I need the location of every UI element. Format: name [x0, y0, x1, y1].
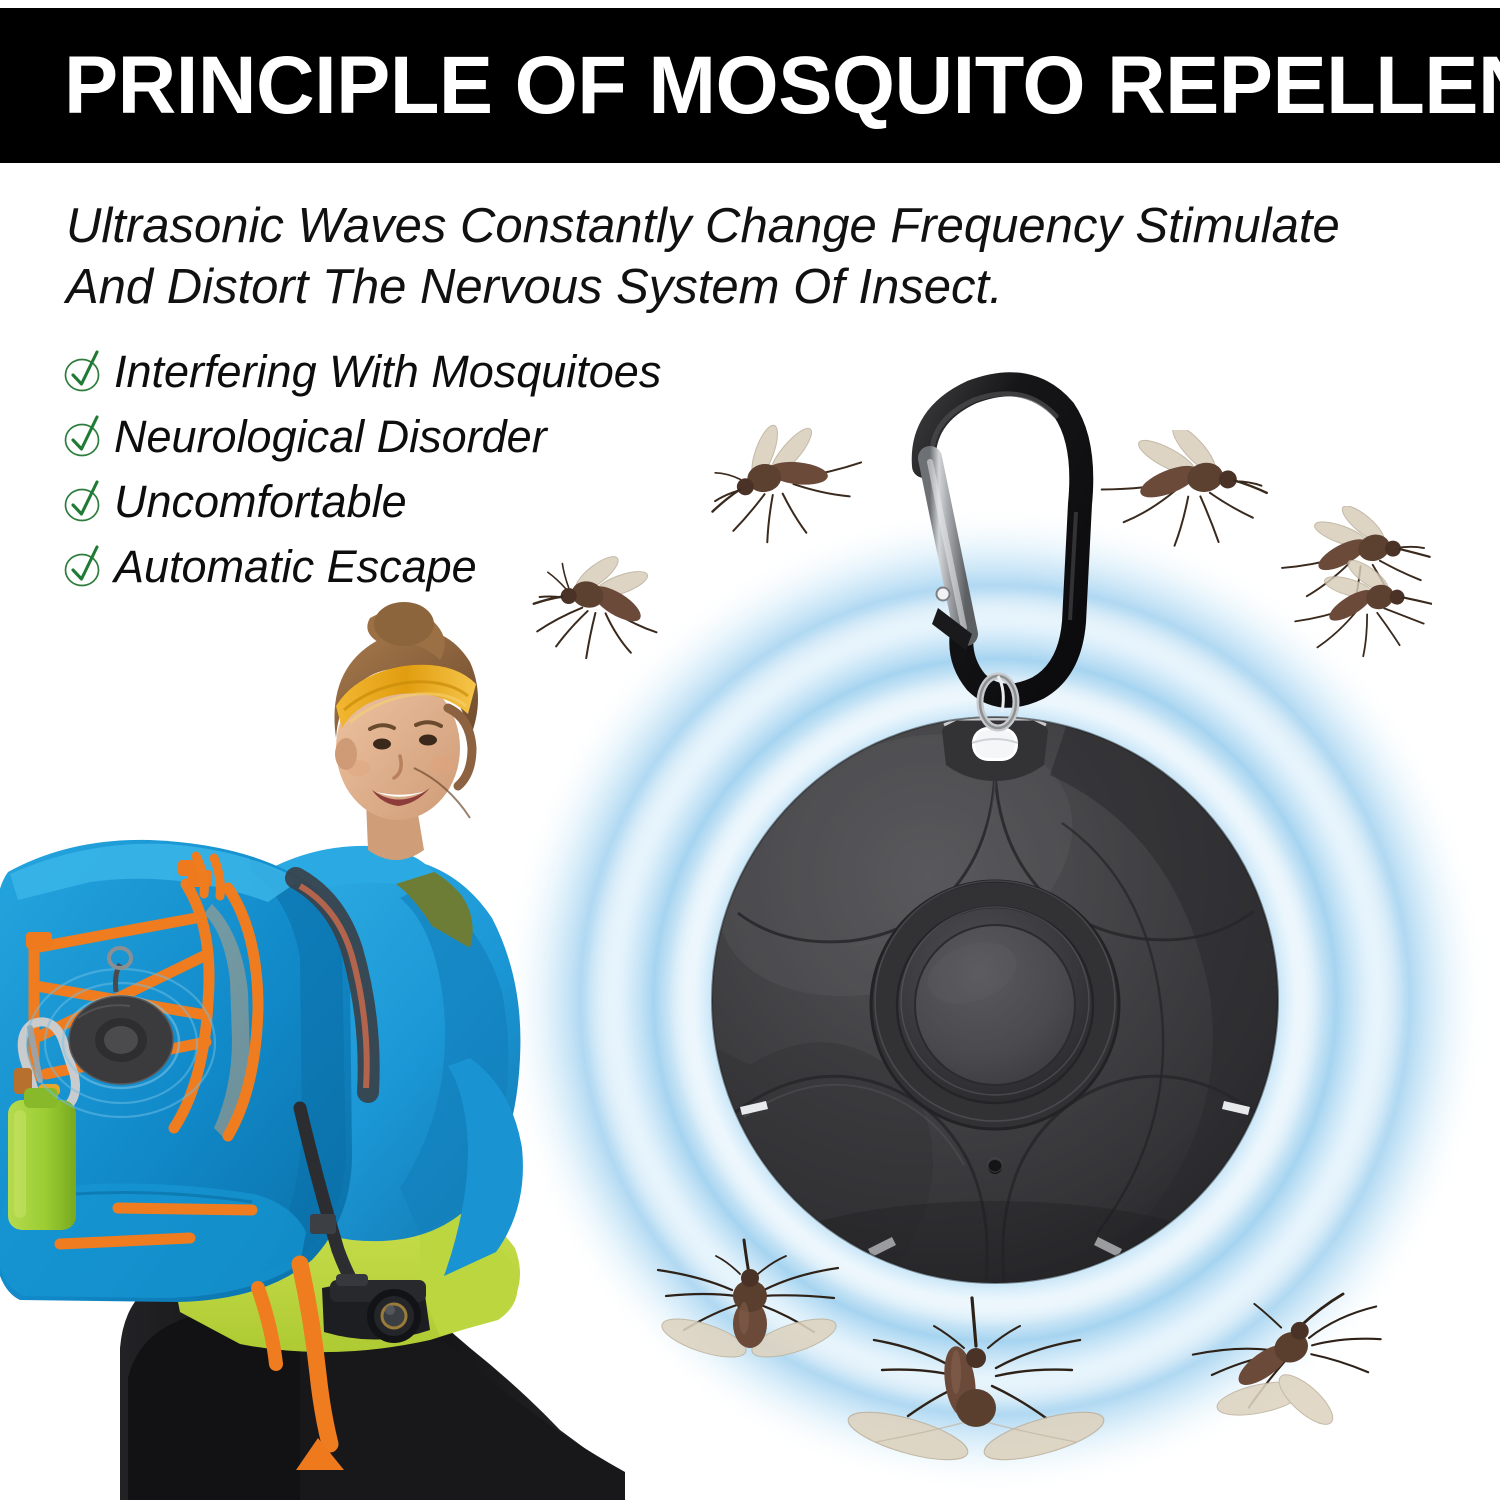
eye-left	[373, 739, 391, 750]
list-item-label: Neurological Disorder	[114, 414, 547, 459]
mosquito-proboscis	[1402, 589, 1431, 613]
mosquito	[526, 552, 690, 672]
check-circle-icon	[62, 478, 104, 524]
hiker-with-backpack-photo	[0, 588, 625, 1500]
subtitle-block: Ultrasonic Waves Constantly Change Frequ…	[66, 196, 1466, 319]
check-circle-icon	[62, 543, 104, 589]
mosquito	[706, 424, 882, 552]
check-circle-icon	[62, 348, 104, 394]
list-item: Uncomfortable	[62, 472, 782, 530]
page-title: PRINCIPLE OF MOSQUITO REPELLENT	[64, 45, 1500, 127]
mosquito-thorax	[956, 1389, 996, 1427]
mosquito-proboscis	[534, 590, 563, 610]
eye-right	[419, 735, 437, 746]
mosquito-proboscis	[744, 1240, 749, 1274]
ultrasonic-mosquito-repellent-puck[interactable]	[710, 715, 1280, 1285]
mosquito-head	[741, 1269, 759, 1287]
mosquito	[1188, 1288, 1418, 1438]
green-water-bottle	[8, 1088, 76, 1230]
gate-pivot	[937, 588, 950, 601]
subtitle-line-1: Ultrasonic Waves Constantly Change Frequ…	[66, 196, 1466, 257]
list-item-label: Uncomfortable	[114, 479, 407, 524]
header-banner: PRINCIPLE OF MOSQUITO REPELLENT	[0, 8, 1500, 163]
mosquito	[1292, 560, 1432, 664]
mosquito-proboscis	[972, 1298, 976, 1346]
carabiner-clip[interactable]	[880, 372, 1110, 732]
check-circle-icon	[62, 413, 104, 459]
mosquito-head	[966, 1348, 986, 1368]
mosquito	[1092, 430, 1268, 562]
list-item: Interfering With Mosquitoes	[62, 342, 782, 400]
list-item-label: Automatic Escape	[114, 544, 477, 589]
mosquito	[836, 1296, 1116, 1496]
infographic-page: PRINCIPLE OF MOSQUITO REPELLENT Ultrason…	[0, 0, 1500, 1500]
subtitle-line-2: And Distort The Nervous System Of Insect…	[66, 257, 1466, 318]
list-item: Neurological Disorder	[62, 407, 782, 465]
mosquito-proboscis	[1295, 1294, 1348, 1326]
mosquito	[636, 1238, 866, 1398]
list-item-label: Interfering With Mosquitoes	[114, 349, 661, 394]
mosquito-proboscis	[1234, 475, 1267, 498]
